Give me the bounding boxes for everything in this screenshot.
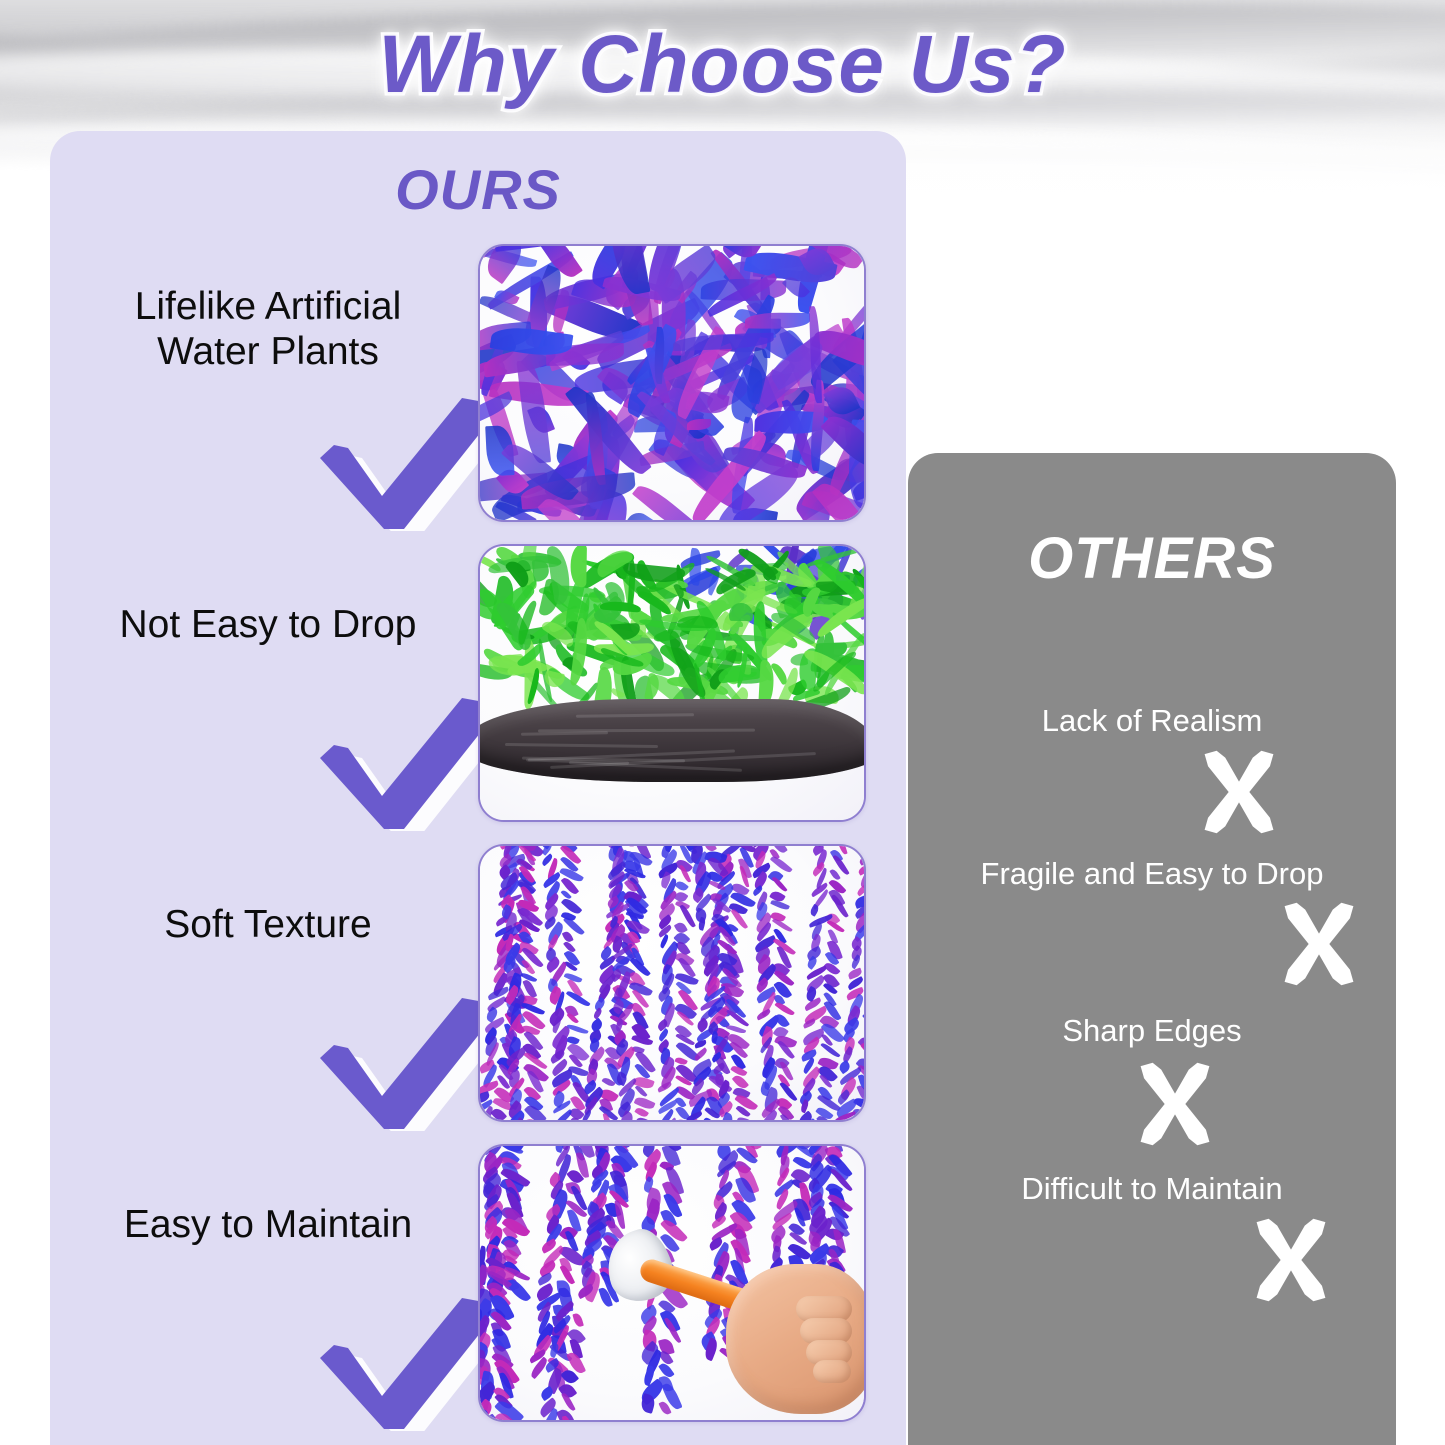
ours-feature-label: Soft Texture <box>68 902 468 947</box>
ours-feature-row: Easy to Maintain <box>50 1144 906 1434</box>
page-title: Why Choose Us? <box>378 18 1066 112</box>
label-line-1: Soft Texture <box>164 903 371 946</box>
driftwood-log <box>480 699 864 781</box>
x-icon <box>1276 901 1362 987</box>
title-container: Why Choose Us? <box>0 12 1445 117</box>
others-header: OTHERS <box>908 525 1396 592</box>
ours-feature-label: Lifelike Artificial Water Plants <box>68 284 468 374</box>
check-icon <box>312 696 502 831</box>
others-drawback-label: Sharp Edges <box>908 1013 1396 1049</box>
ours-feature-row: Not Easy to Drop <box>50 544 906 834</box>
ours-feature-row: Lifelike Artificial Water Plants <box>50 244 906 534</box>
ours-header: OURS <box>50 157 906 222</box>
label-line-1: Not Easy to Drop <box>120 603 417 646</box>
check-icon <box>312 996 502 1131</box>
ours-feature-photo <box>478 844 866 1122</box>
check-icon <box>312 396 502 531</box>
label-line-2: Water Plants <box>157 330 379 373</box>
label-line-1: Lifelike Artificial <box>135 285 402 328</box>
others-drawback-label: Lack of Realism <box>908 703 1396 739</box>
x-icon <box>1132 1061 1218 1147</box>
x-icon <box>1248 1217 1334 1303</box>
label-line-1: Easy to Maintain <box>124 1203 412 1246</box>
others-panel: OTHERS Lack of Realism Fragile and Easy … <box>908 453 1396 1445</box>
ours-feature-photo <box>478 1144 866 1422</box>
ours-feature-photo <box>478 244 866 522</box>
ours-feature-label: Easy to Maintain <box>68 1202 468 1247</box>
others-drawback-label: Fragile and Easy to Drop <box>908 856 1396 892</box>
ours-feature-photo <box>478 544 866 822</box>
others-drawback-label: Difficult to Maintain <box>908 1171 1396 1207</box>
check-icon <box>312 1296 502 1431</box>
ours-panel: OURS Lifelike Artificial Water Plants No… <box>50 131 906 1445</box>
ours-feature-row: Soft Texture <box>50 844 906 1134</box>
ours-feature-label: Not Easy to Drop <box>68 602 468 647</box>
x-icon <box>1196 749 1282 835</box>
